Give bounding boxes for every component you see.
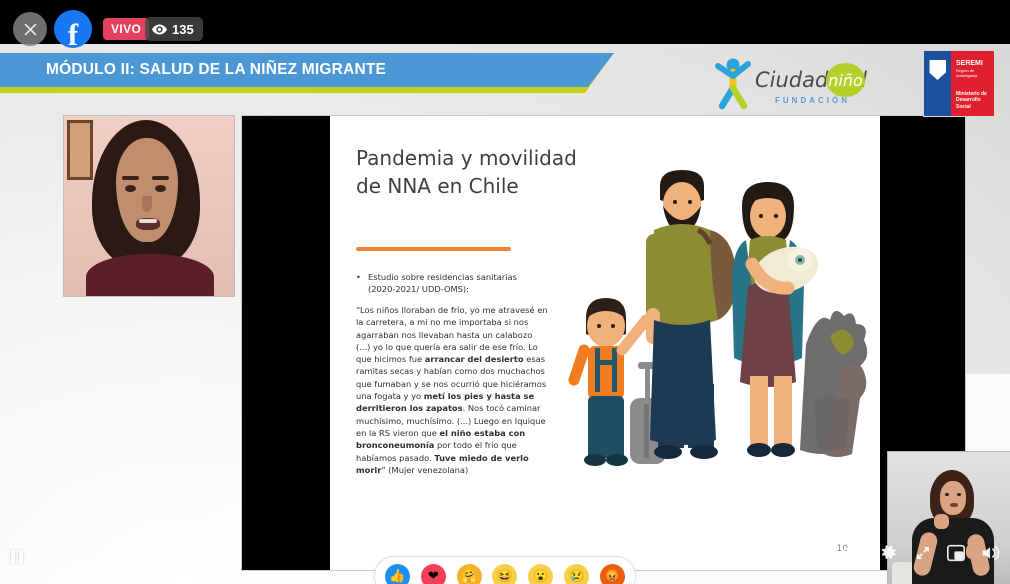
- slide-quote: “Los niños lloraban de frío, yo me atrav…: [356, 304, 548, 476]
- reaction-tray[interactable]: 👍❤🤗😆😮😢😡: [374, 556, 636, 584]
- facebook-logo[interactable]: f: [54, 10, 92, 48]
- reaction-like[interactable]: 👍: [385, 564, 410, 584]
- wall-picture-frame: [67, 120, 93, 180]
- settings-button[interactable]: [879, 543, 898, 567]
- slide-canvas: Pandemia y movilidad de NNA en Chile • E…: [330, 116, 880, 571]
- reaction-haha[interactable]: 😆: [492, 564, 517, 584]
- presenter-brow-right: [152, 176, 169, 180]
- presenter-brow-left: [122, 176, 139, 180]
- presenter-eye-right: [155, 185, 166, 192]
- player-controls: 👍❤🤗😆😮😢😡: [0, 536, 1010, 584]
- family-illustration-svg: [562, 168, 872, 513]
- picture-in-picture-icon: [946, 544, 966, 562]
- bullet-text: Estudio sobre residencias sanitarias (20…: [356, 271, 546, 295]
- presenter-eye-left: [125, 185, 136, 192]
- pause-bar-left: [11, 550, 15, 564]
- presenter-webcam: [63, 115, 235, 297]
- government-logo: SEREMI Región de Antofagasta Ministerio …: [923, 50, 995, 117]
- presenter-mouth: [136, 218, 160, 230]
- slide-title-underline: [356, 247, 511, 251]
- child-figure-icon: [713, 56, 753, 112]
- government-logo-blue-panel: [924, 51, 951, 116]
- interpreter-face: [940, 481, 966, 515]
- reaction-love[interactable]: ❤: [421, 564, 446, 584]
- interpreter-mouth: [950, 503, 958, 507]
- interpreter-eye-right: [957, 493, 961, 496]
- module-banner: MÓDULO II: SALUD DE LA NIÑEZ MIGRANTE: [0, 53, 635, 93]
- facebook-logo-letter: f: [68, 19, 78, 48]
- bullet-marker: •: [356, 271, 361, 283]
- presenter-torso: [86, 254, 214, 297]
- facebook-live-player: MÓDULO II: SALUD DE LA NIÑEZ MIGRANTE Ci…: [0, 0, 1010, 584]
- live-badge: VIVO: [103, 18, 149, 40]
- reaction-sad[interactable]: 😢: [564, 564, 589, 584]
- volume-icon: [980, 544, 1000, 562]
- fullscreen-button[interactable]: [914, 544, 932, 567]
- government-logo-title: SEREMI: [956, 60, 983, 67]
- reaction-wow[interactable]: 😮: [528, 564, 553, 584]
- video-surface[interactable]: MÓDULO II: SALUD DE LA NIÑEZ MIGRANTE Ci…: [0, 44, 1010, 584]
- government-logo-subtitle: Región de Antofagasta: [956, 68, 994, 78]
- reaction-angry[interactable]: 😡: [600, 564, 625, 584]
- presenter-nose: [142, 196, 152, 212]
- comments-disabled-button[interactable]: [839, 544, 857, 567]
- foundation-logo-circle-word: niño: [828, 71, 863, 90]
- government-logo-red-panel: SEREMI Región de Antofagasta Ministerio …: [951, 51, 994, 116]
- government-logo-ministry: Ministerio de Desarrollo Social: [956, 91, 996, 111]
- foundation-logo-circle: niño: [826, 63, 865, 97]
- eye-icon: [152, 24, 167, 35]
- migrant-family-illustration: [562, 168, 872, 513]
- interpreter-hand-left: [934, 514, 949, 529]
- close-button[interactable]: [13, 12, 47, 46]
- foundation-logo: Ciudad del niño FUNDACIÓN: [713, 50, 863, 116]
- expand-icon: [914, 544, 932, 562]
- viewer-count-value: 135: [172, 22, 194, 37]
- pause-button[interactable]: [11, 550, 23, 564]
- coat-of-arms-icon: [929, 60, 946, 80]
- interpreter-eye-left: [945, 493, 949, 496]
- pause-bar-right: [19, 550, 23, 564]
- presenter-teeth: [139, 219, 157, 223]
- viewer-count: 135: [145, 17, 203, 41]
- foundation-logo-subtitle: FUNDACIÓN: [775, 96, 850, 105]
- close-icon: [22, 21, 39, 38]
- slide-bullet: • Estudio sobre residencias sanitarias (…: [356, 271, 546, 295]
- reaction-care[interactable]: 🤗: [457, 564, 482, 584]
- gear-icon: [879, 543, 898, 562]
- picture-in-picture-button[interactable]: [946, 544, 966, 567]
- slide-title: Pandemia y movilidad de NNA en Chile: [356, 144, 586, 200]
- banner-title: MÓDULO II: SALUD DE LA NIÑEZ MIGRANTE: [46, 53, 386, 87]
- volume-button[interactable]: [980, 544, 1000, 567]
- player-topbar: f VIVO 135: [0, 0, 1010, 44]
- comments-disabled-icon: [839, 544, 857, 562]
- presentation-slide: Pandemia y movilidad de NNA en Chile • E…: [241, 115, 966, 571]
